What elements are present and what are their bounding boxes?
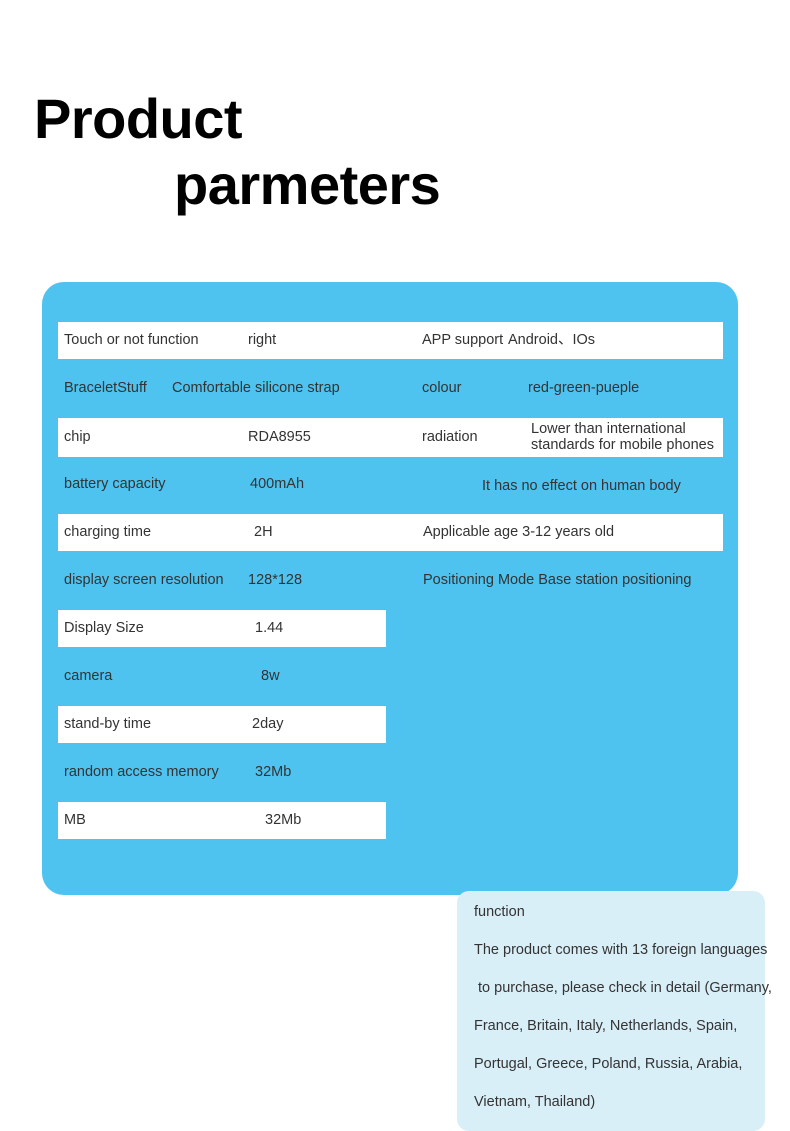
spec-label-mb: MB xyxy=(64,812,86,829)
spec-label-camera: camera xyxy=(64,668,112,685)
spec-value-mb: 32Mb xyxy=(265,812,301,829)
spec-label-chip: chip xyxy=(64,429,91,446)
spec-label-radiation: radiation xyxy=(422,429,478,446)
row-band-5 xyxy=(58,514,723,551)
spec-label-stand-by-time: stand-by time xyxy=(64,716,151,733)
row-band-11 xyxy=(58,802,386,839)
spec-value-touch: right xyxy=(248,332,276,349)
spec-label-charging-time: charging time xyxy=(64,524,151,541)
page-title-line-2: parmeters xyxy=(0,152,790,218)
spec-value-display-size: 1.44 xyxy=(255,620,283,637)
function-panel-line-1: The product comes with 13 foreign langua… xyxy=(474,942,767,958)
spec-value-bracelet-stuff: Comfortable silicone strap xyxy=(172,380,340,397)
spec-value-chip: RDA8955 xyxy=(248,429,311,446)
spec-value-camera: 8w xyxy=(261,668,280,685)
function-panel: function The product comes with 13 forei… xyxy=(457,891,765,1131)
spec-label-touch: Touch or not function xyxy=(64,332,199,349)
spec-value-display-screen-resolution: 128*128 xyxy=(248,572,302,589)
spec-card: Touch or not function right BraceletStuf… xyxy=(42,282,738,895)
spec-label-bracelet-stuff: BraceletStuff xyxy=(64,380,147,397)
spec-value-radiation-line-2: standards for mobile phones xyxy=(531,437,714,454)
function-panel-line-3: France, Britain, Italy, Netherlands, Spa… xyxy=(474,1018,737,1034)
spec-label-display-size: Display Size xyxy=(64,620,144,637)
spec-value-positioning-mode: Positioning Mode Base station positionin… xyxy=(423,572,691,589)
page-title: Product parmeters xyxy=(0,86,790,218)
spec-value-app-support: Android、IOs xyxy=(508,332,595,349)
function-panel-line-4: Portugal, Greece, Poland, Russia, Arabia… xyxy=(474,1056,742,1072)
spec-label-colour: colour xyxy=(422,380,462,397)
spec-value-battery-capacity: 400mAh xyxy=(250,476,304,493)
spec-value-random-access-memory: 32Mb xyxy=(255,764,291,781)
page-title-line-1: Product xyxy=(0,86,790,152)
function-panel-line-5: Vietnam, Thailand) xyxy=(474,1094,595,1110)
spec-value-human-body-effect: It has no effect on human body xyxy=(482,478,681,495)
spec-value-stand-by-time: 2day xyxy=(252,716,283,733)
spec-label-display-screen-resolution: display screen resolution xyxy=(64,572,224,589)
spec-value-radiation-line-1: Lower than international xyxy=(531,421,686,438)
spec-value-colour: red-green-pueple xyxy=(528,380,639,397)
spec-value-applicable-age: Applicable age 3-12 years old xyxy=(423,524,614,541)
function-panel-heading: function xyxy=(474,904,525,920)
spec-label-random-access-memory: random access memory xyxy=(64,764,219,781)
spec-label-app-support: APP support xyxy=(422,332,503,349)
spec-value-charging-time: 2H xyxy=(254,524,273,541)
spec-label-battery-capacity: battery capacity xyxy=(64,476,166,493)
function-panel-line-2: to purchase, please check in detail (Ger… xyxy=(474,980,772,996)
